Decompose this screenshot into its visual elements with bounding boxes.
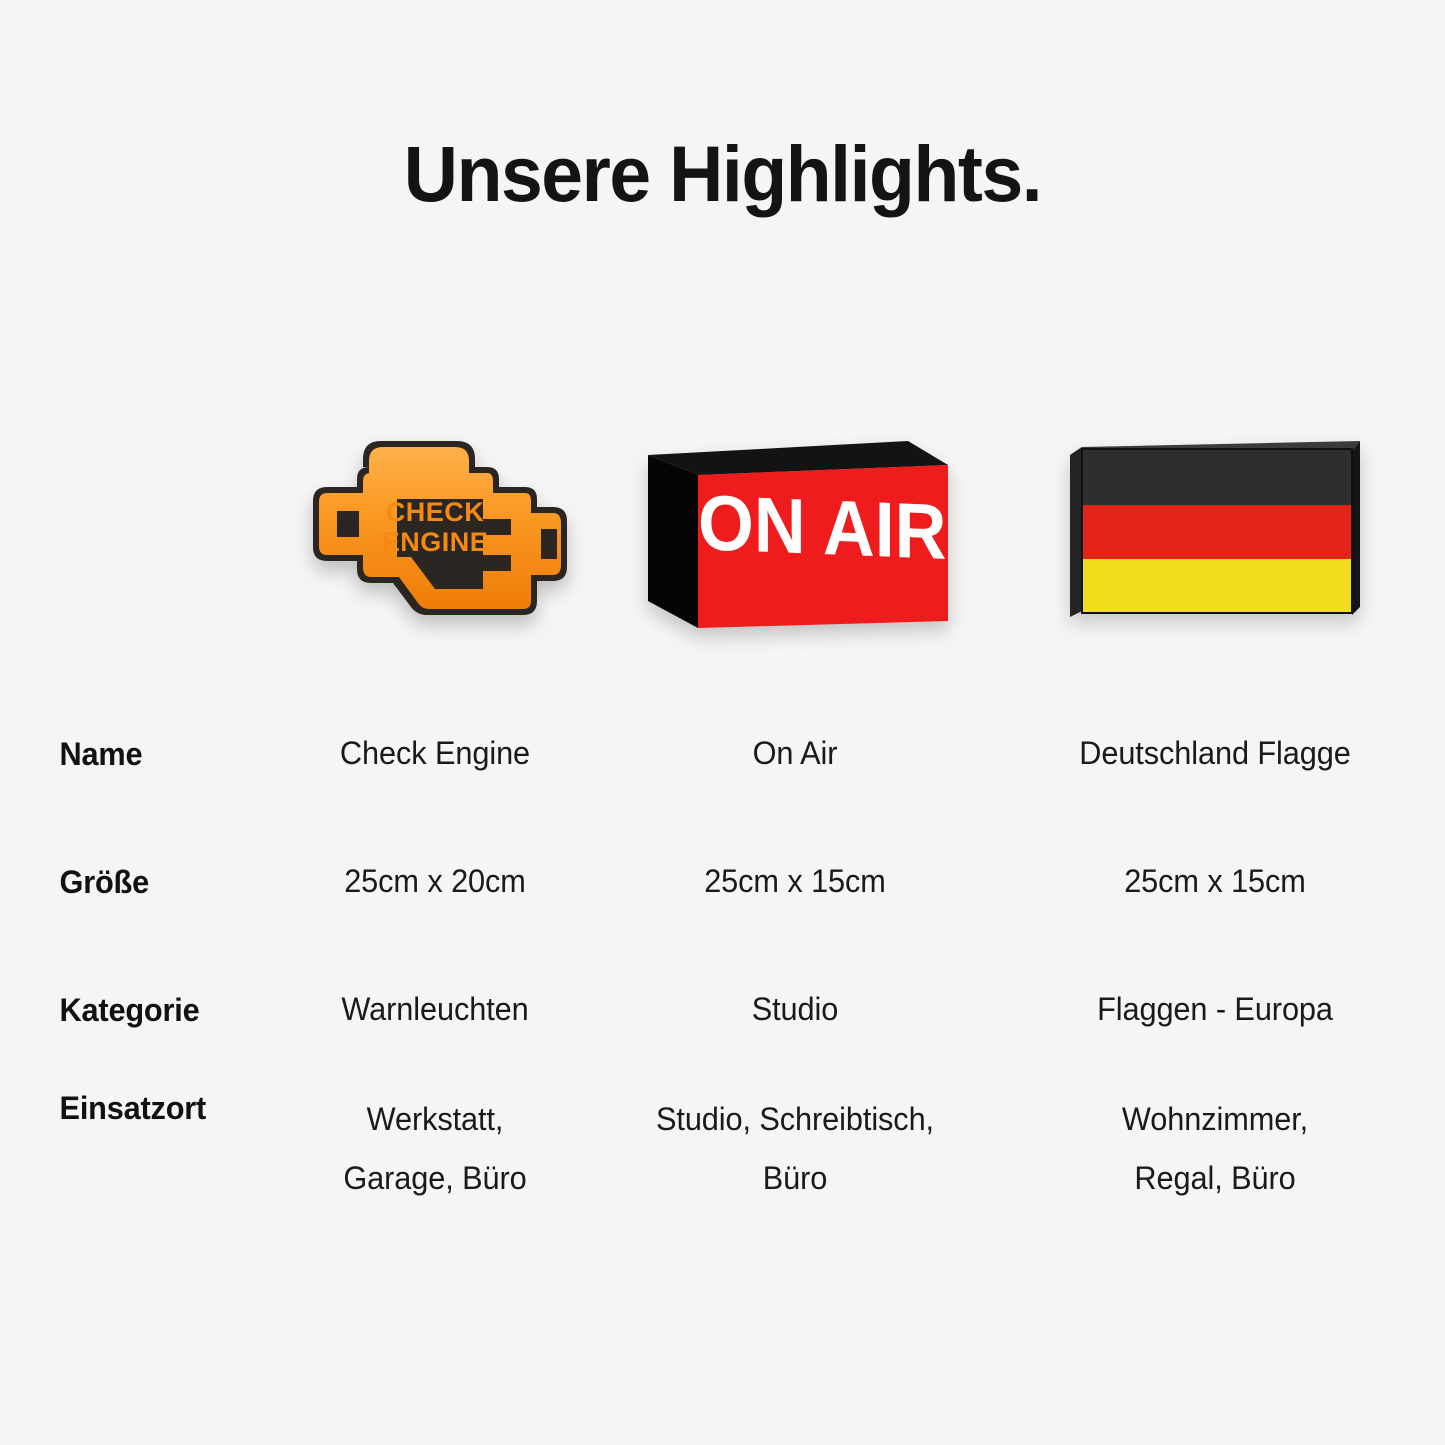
row-label-einsatzort: Einsatzort: [0, 1074, 254, 1127]
product-image-row: CHECK ENGINE ON AIR: [0, 400, 1445, 660]
table-row: Name Check Engine On Air Deutschland Fla…: [0, 690, 1445, 818]
row-label-groesse: Größe: [0, 864, 254, 901]
row-label-kategorie: Kategorie: [0, 992, 254, 1029]
cell-groesse-deutschland-flagge: 25cm x 15cm: [994, 852, 1436, 911]
cell-name-on-air: On Air: [613, 724, 978, 783]
cell-name-deutschland-flagge: Deutschland Flagge: [994, 724, 1436, 783]
highlights-page: Unsere Highlights.: [0, 0, 1445, 1445]
table-row: Einsatzort Werkstatt, Garage, Büro Studi…: [0, 1074, 1445, 1244]
germany-flag-lightbox-graphic: [1060, 425, 1370, 635]
spec-table: Name Check Engine On Air Deutschland Fla…: [0, 690, 1445, 1244]
table-row: Größe 25cm x 20cm 25cm x 15cm 25cm x 15c…: [0, 818, 1445, 946]
check-engine-lamp-graphic: CHECK ENGINE: [275, 415, 595, 645]
image-row-label-spacer: [0, 400, 265, 660]
on-air-box-icon: [640, 423, 950, 638]
cell-kategorie-check-engine: Warnleuchten: [272, 980, 598, 1039]
cell-groesse-on-air: 25cm x 15cm: [613, 852, 978, 911]
row-label-name: Name: [0, 736, 254, 773]
cell-einsatzort-on-air: Studio, Schreibtisch, Büro: [613, 1074, 978, 1208]
product-image-on-air[interactable]: ON AIR: [605, 400, 985, 660]
cell-einsatzort-check-engine: Werkstatt, Garage, Büro: [272, 1074, 598, 1208]
on-air-lightbox-graphic: ON AIR: [640, 423, 950, 638]
cell-groesse-check-engine: 25cm x 20cm: [272, 852, 598, 911]
check-engine-icon: [275, 415, 595, 645]
product-image-check-engine[interactable]: CHECK ENGINE: [265, 400, 605, 660]
page-title: Unsere Highlights.: [36, 133, 1409, 216]
cell-name-check-engine: Check Engine: [272, 724, 598, 783]
germany-flag-icon: [1060, 425, 1370, 635]
cell-einsatzort-deutschland-flagge: Wohnzimmer, Regal, Büro: [994, 1074, 1436, 1208]
cell-kategorie-deutschland-flagge: Flaggen - Europa: [994, 980, 1436, 1039]
product-image-deutschland-flagge[interactable]: [985, 400, 1445, 660]
cell-kategorie-on-air: Studio: [613, 980, 978, 1039]
table-row: Kategorie Warnleuchten Studio Flaggen - …: [0, 946, 1445, 1074]
